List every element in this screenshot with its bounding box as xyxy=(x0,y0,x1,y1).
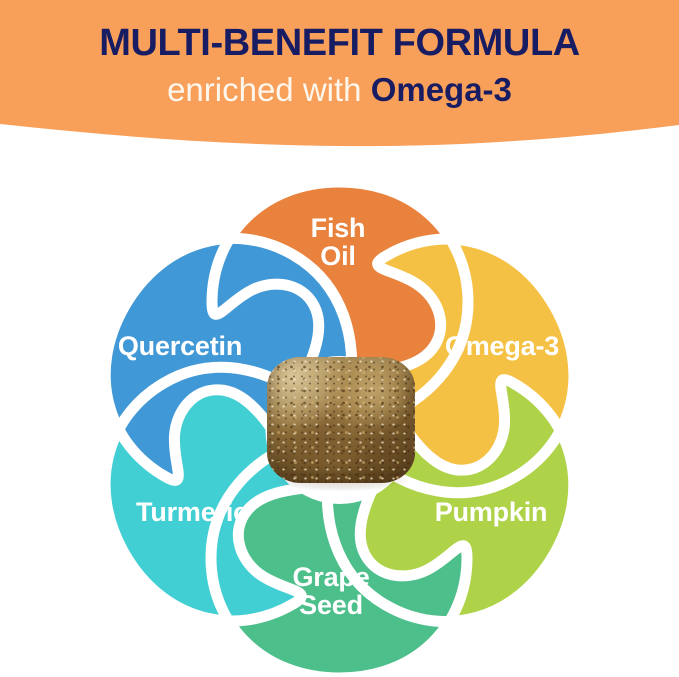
infographic-canvas: MULTI-BENEFIT FORMULA enriched with Omeg… xyxy=(0,0,679,677)
kibble-body xyxy=(267,357,415,483)
header-banner: MULTI-BENEFIT FORMULA enriched with Omeg… xyxy=(0,0,679,150)
page-subtitle-accent: Omega-3 xyxy=(371,71,512,108)
page-subtitle: enriched with Omega-3 xyxy=(167,73,512,108)
soft-chew-kibble-image xyxy=(267,357,415,487)
page-title: MULTI-BENEFIT FORMULA xyxy=(99,24,580,64)
page-subtitle-lead: enriched with xyxy=(167,71,371,108)
kibble-texture-overlay xyxy=(267,357,415,483)
header-text-stack: MULTI-BENEFIT FORMULA enriched with Omeg… xyxy=(0,0,679,140)
